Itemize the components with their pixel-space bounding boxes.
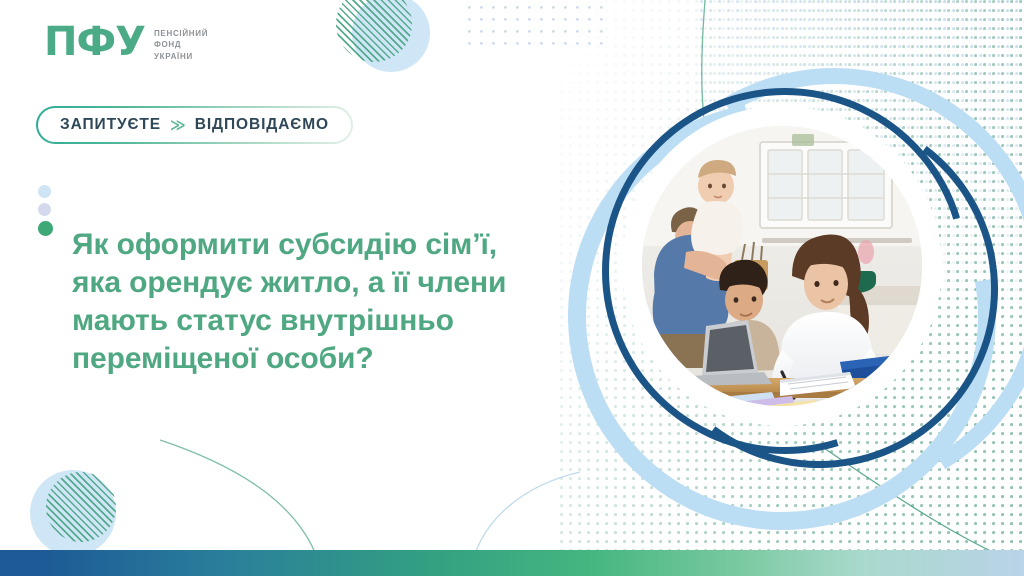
badge-label-answer: ВІДПОВІДАЄМО [195,116,329,134]
logo-subtitle-line-3: України [154,51,208,62]
slide-canvas: ПФУ Пенсійний Фонд України ЗАПИТУЄТЕ ≫ В… [0,0,1024,576]
badge-label-question: ЗАПИТУЄТЕ [60,116,161,134]
hero-photo [642,126,922,406]
logo-subtitle-line-2: Фонд [154,39,208,50]
page-title: Як оформити субсидію сім’ї, яка орендує … [72,226,572,378]
logo-mark-text: ПФУ [44,24,145,61]
decor-circle-blue-top [352,0,430,72]
qa-badge[interactable]: ЗАПИТУЄТЕ ≫ ВІДПОВІДАЄМО [36,106,353,144]
headline-line-3: мають статус внутрішньо [72,302,572,340]
bullet-lavender-icon [38,203,51,216]
decor-circle-blue-bottom [30,470,116,556]
headline-line-1: Як оформити субсидію сім’ї, [72,226,572,264]
pfu-logo[interactable]: ПФУ Пенсійний Фонд України [44,24,208,62]
dot-grid-top-center [468,6,608,54]
headline-line-2: яка орендує житло, а її члени [72,264,572,302]
hero-photo-illustration [642,126,922,406]
headline-line-4: переміщеної особи? [72,340,572,378]
decor-circle-hatched-bottom [46,472,116,542]
logo-subtitle: Пенсійний Фонд України [154,28,208,62]
bullet-light-blue-icon [38,185,51,198]
decor-circle-hatched-top [336,0,412,62]
hero-photo-composition [566,86,1002,506]
double-chevron-right-icon: ≫ [170,118,186,133]
bullet-green-icon [38,221,53,236]
bottom-gradient-bar [0,550,1024,576]
bullet-dots-group [38,185,53,236]
logo-subtitle-line-1: Пенсійний [154,28,208,39]
